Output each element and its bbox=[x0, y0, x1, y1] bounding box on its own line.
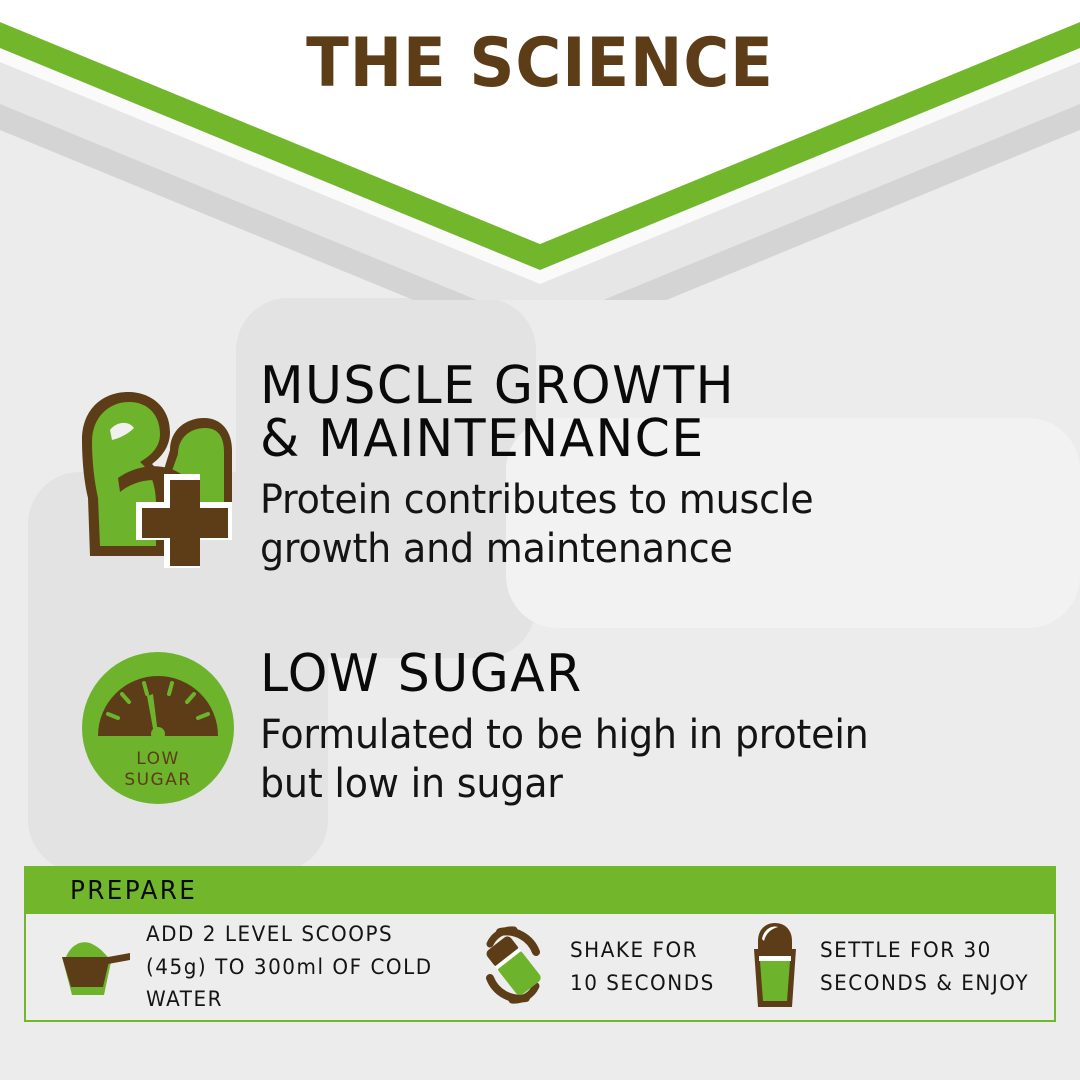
feature-muscle-body-line1: Protein contributes to muscle bbox=[260, 476, 1001, 525]
feature-muscle-heading-line2: & MAINTENANCE bbox=[260, 413, 1017, 466]
gauge-label-line1: LOW bbox=[136, 749, 180, 769]
prepare-step-text: SETTLE FOR 30 SECONDS & ENJOY bbox=[820, 934, 1029, 999]
feature-muscle-growth: MUSCLE GROWTH & MAINTENANCE Protein cont… bbox=[60, 360, 1040, 574]
prepare-step-text: SHAKE FOR 10 SECONDS bbox=[570, 934, 715, 999]
prepare-step3-line2: SECONDS & ENJOY bbox=[820, 967, 1029, 1000]
prepare-step-text: ADD 2 LEVEL SCOOPS (45g) TO 300ml OF COL… bbox=[146, 918, 433, 1016]
prepare-steps: ADD 2 LEVEL SCOOPS (45g) TO 300ml OF COL… bbox=[26, 914, 1054, 1020]
feature-low-sugar-body-line1: Formulated to be high in protein bbox=[260, 711, 1001, 760]
prepare-header: PREPARE bbox=[26, 868, 1054, 914]
gauge-label-line2: SUGAR bbox=[124, 770, 191, 790]
prepare-step3-line1: SETTLE FOR 30 bbox=[820, 934, 1029, 967]
prepare-step1-line1: ADD 2 LEVEL SCOOPS bbox=[146, 918, 433, 951]
feature-low-sugar-body-line2: but low in sugar bbox=[260, 760, 1001, 809]
low-sugar-gauge-icon: LOW SUGAR bbox=[60, 652, 256, 809]
scoop-icon bbox=[40, 927, 132, 1006]
prepare-step1-line3: WATER bbox=[146, 983, 433, 1016]
shake-bottle-icon bbox=[470, 922, 556, 1013]
poster-canvas: THE SCIENCE bbox=[0, 0, 1080, 1080]
prepare-step: ADD 2 LEVEL SCOOPS (45g) TO 300ml OF COL… bbox=[40, 918, 470, 1016]
prepare-label: PREPARE bbox=[70, 876, 197, 906]
feature-muscle-heading-line1: MUSCLE GROWTH bbox=[260, 360, 1017, 413]
feature-low-sugar: LOW SUGAR LOW SUGAR Formulated to be hig… bbox=[60, 648, 1040, 809]
feature-low-sugar-heading-line1: LOW SUGAR bbox=[260, 648, 1017, 701]
prepare-step: SETTLE FOR 30 SECONDS & ENJOY bbox=[744, 919, 1040, 1016]
prepare-step: SHAKE FOR 10 SECONDS bbox=[470, 922, 744, 1013]
prepare-step2-line1: SHAKE FOR bbox=[570, 934, 715, 967]
flexed-bicep-plus-icon bbox=[60, 378, 256, 573]
prepare-step1-line2: (45g) TO 300ml OF COLD bbox=[146, 951, 433, 984]
feature-muscle-body-line2: growth and maintenance bbox=[260, 525, 1001, 574]
settle-shaker-icon bbox=[744, 919, 806, 1016]
feature-muscle-copy: MUSCLE GROWTH & MAINTENANCE Protein cont… bbox=[260, 360, 1040, 574]
prepare-panel: PREPARE ADD bbox=[24, 866, 1056, 1022]
prepare-step2-line2: 10 SECONDS bbox=[570, 967, 715, 1000]
feature-low-sugar-copy: LOW SUGAR Formulated to be high in prote… bbox=[260, 648, 1040, 809]
page-title: THE SCIENCE bbox=[43, 24, 1037, 103]
